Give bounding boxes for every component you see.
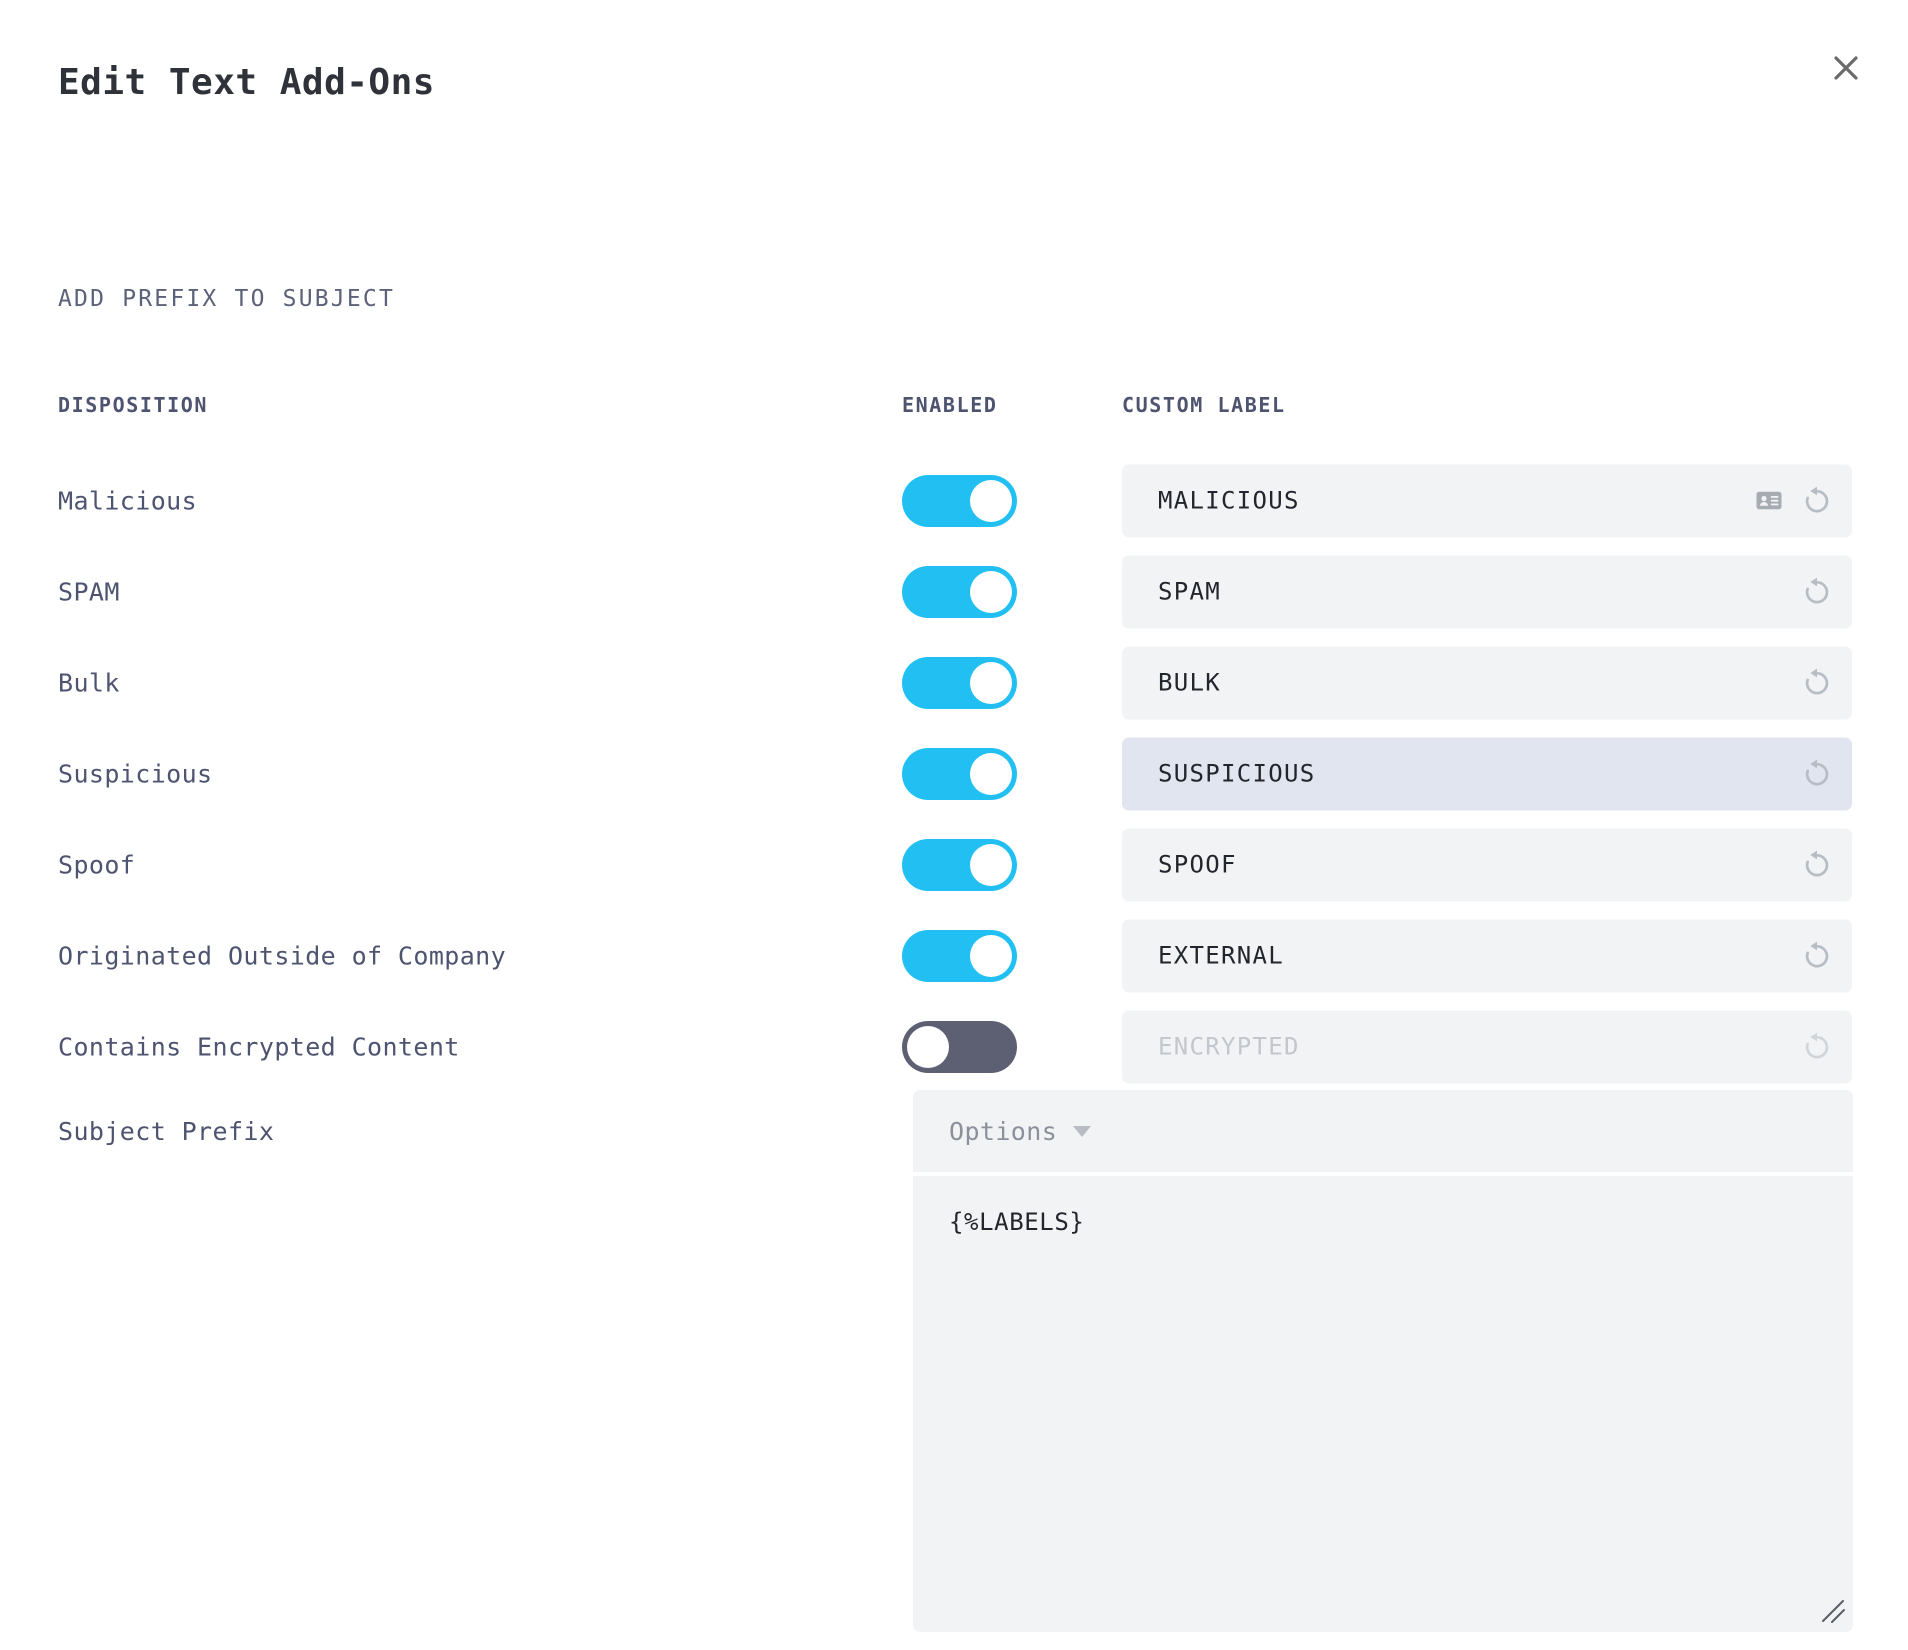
custom-label-input[interactable]: SUSPICIOUS (1122, 737, 1852, 810)
column-header-disposition: DISPOSITION (58, 393, 208, 417)
custom-label-input[interactable]: BULK (1122, 646, 1852, 719)
disposition-label: Originated Outside of Company (58, 941, 506, 970)
options-dropdown[interactable]: Options (913, 1090, 1853, 1172)
custom-label-input[interactable]: MALICIOUS (1122, 464, 1852, 537)
close-icon (1831, 53, 1861, 83)
enabled-toggle[interactable] (902, 1021, 1017, 1073)
custom-label-value: MALICIOUS (1158, 487, 1752, 515)
subject-prefix-textarea[interactable] (913, 1176, 1853, 1632)
enabled-toggle[interactable] (902, 839, 1017, 891)
reset-icon[interactable] (1800, 484, 1834, 518)
enabled-toggle[interactable] (902, 657, 1017, 709)
options-dropdown-label: Options (949, 1117, 1057, 1146)
reset-icon[interactable] (1800, 575, 1834, 609)
enabled-toggle[interactable] (902, 748, 1017, 800)
reset-icon[interactable] (1800, 666, 1834, 700)
table-row: SpoofSPOOF (0, 819, 1908, 910)
subject-prefix-label: Subject Prefix (58, 1117, 274, 1146)
custom-label-value: EXTERNAL (1158, 942, 1800, 970)
column-header-enabled: ENABLED (902, 393, 998, 417)
table-row: BulkBULK (0, 637, 1908, 728)
custom-label-value: ENCRYPTED (1158, 1033, 1800, 1061)
toggle-knob (970, 935, 1012, 977)
table-row: SuspiciousSUSPICIOUS (0, 728, 1908, 819)
table-row: Originated Outside of CompanyEXTERNAL (0, 910, 1908, 1001)
reset-icon[interactable] (1800, 848, 1834, 882)
custom-label-value: BULK (1158, 669, 1800, 697)
table-row: SPAMSPAM (0, 546, 1908, 637)
toggle-knob (907, 1026, 949, 1068)
enabled-toggle[interactable] (902, 930, 1017, 982)
toggle-knob (970, 480, 1012, 522)
toggle-knob (970, 571, 1012, 613)
disposition-label: Contains Encrypted Content (58, 1032, 460, 1061)
field-icon-group (1800, 757, 1834, 791)
field-icon-group (1800, 575, 1834, 609)
column-header-custom-label: CUSTOM LABEL (1122, 393, 1286, 417)
enabled-toggle[interactable] (902, 475, 1017, 527)
custom-label-value: SPAM (1158, 578, 1800, 606)
table-row: MaliciousMALICIOUS (0, 455, 1908, 546)
disposition-label: Spoof (58, 850, 135, 879)
edit-text-addons-dialog: Edit Text Add-Ons ADD PREFIX TO SUBJECT … (0, 0, 1908, 1650)
chevron-down-icon (1073, 1126, 1091, 1137)
disposition-rows: MaliciousMALICIOUSSPAMSPAMBulkBULKSuspic… (0, 455, 1908, 1092)
toggle-knob (970, 844, 1012, 886)
field-icon-group (1752, 484, 1834, 518)
disposition-label: SPAM (58, 577, 120, 606)
reset-icon[interactable] (1800, 757, 1834, 791)
custom-label-input[interactable]: SPAM (1122, 555, 1852, 628)
contact-card-icon[interactable] (1752, 484, 1786, 518)
close-button[interactable] (1820, 42, 1872, 94)
reset-icon (1800, 1030, 1834, 1064)
field-icon-group (1800, 848, 1834, 882)
page-title: Edit Text Add-Ons (58, 62, 435, 103)
toggle-knob (970, 662, 1012, 704)
reset-icon[interactable] (1800, 939, 1834, 973)
disposition-label: Malicious (58, 486, 197, 515)
custom-label-input: ENCRYPTED (1122, 1010, 1852, 1083)
custom-label-value: SUSPICIOUS (1158, 760, 1800, 788)
table-row: Contains Encrypted ContentENCRYPTED (0, 1001, 1908, 1092)
custom-label-input[interactable]: EXTERNAL (1122, 919, 1852, 992)
field-icon-group (1800, 939, 1834, 973)
field-icon-group (1800, 1030, 1834, 1064)
custom-label-input[interactable]: SPOOF (1122, 828, 1852, 901)
custom-label-value: SPOOF (1158, 851, 1800, 879)
section-heading: ADD PREFIX TO SUBJECT (58, 286, 395, 312)
disposition-label: Bulk (58, 668, 120, 697)
disposition-label: Suspicious (58, 759, 213, 788)
toggle-knob (970, 753, 1012, 795)
field-icon-group (1800, 666, 1834, 700)
enabled-toggle[interactable] (902, 566, 1017, 618)
